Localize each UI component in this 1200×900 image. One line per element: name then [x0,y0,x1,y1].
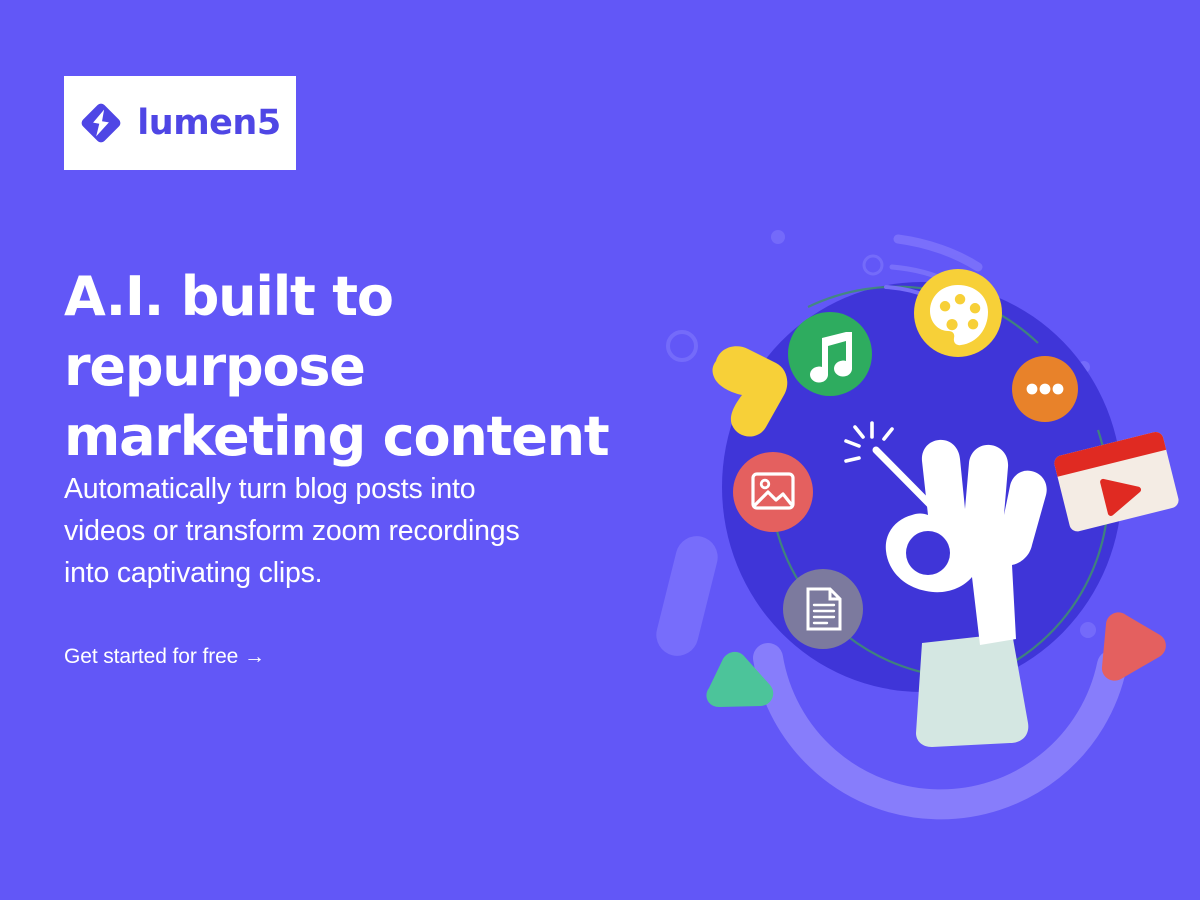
brand-wordmark: lumen5 [137,106,280,141]
ellipsis-icon[interactable] [1012,356,1078,422]
lavender-pill-shape [652,532,722,661]
brand-logo[interactable]: lumen5 [64,76,296,170]
music-note-icon[interactable] [788,312,872,396]
lumen5-diamond-bolt-icon [79,101,123,145]
palette-icon[interactable] [914,269,1002,357]
hero-illustration [660,215,1200,755]
get-started-link[interactable]: Get started for free → [64,645,265,669]
red-play-triangle-shape [1102,612,1166,680]
hero-subcopy: Automatically turn blog posts into video… [64,468,664,595]
hero-slide: lumen5 A.I. built to repurpose marketing… [0,0,1200,900]
image-icon[interactable] [733,452,813,532]
document-icon[interactable] [783,569,863,649]
page-title: A.I. built to repurpose marketing conten… [64,262,704,473]
